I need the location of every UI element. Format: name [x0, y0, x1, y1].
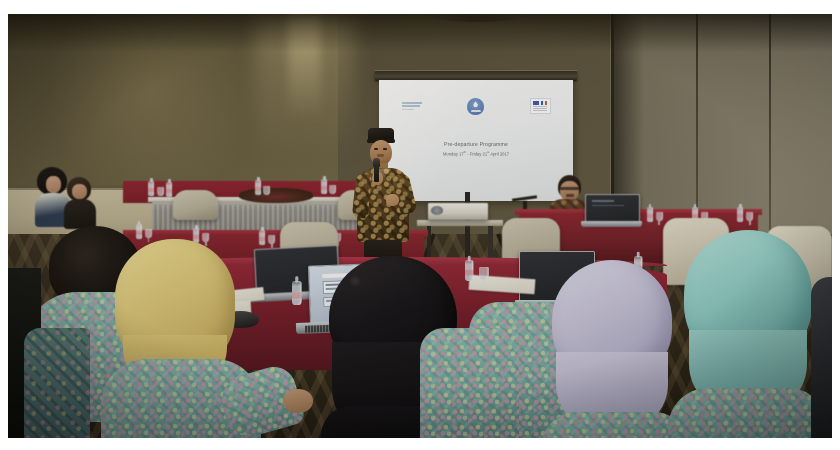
- photo-frame: Pre-departure Programme Monday 17th - Fr…: [0, 0, 840, 450]
- water-bottle: [321, 179, 327, 194]
- face: [46, 176, 61, 193]
- participant-batik-shoulder: [420, 328, 519, 438]
- microphone-body: [374, 166, 379, 182]
- france-flag-icon: [541, 101, 547, 105]
- participant-batik-edge: [24, 328, 90, 438]
- water-bottle: [292, 281, 302, 305]
- drinking-glass: [656, 212, 663, 221]
- projector-lens: [431, 206, 443, 214]
- slide-dates: Monday 17th - Friday 21st April 2017: [379, 150, 573, 156]
- participant-edge: [811, 277, 832, 438]
- water-bottle: [255, 180, 261, 195]
- water-bottle: [465, 260, 473, 281]
- slide-title: Pre-departure Programme: [379, 142, 573, 148]
- water-bottle: [647, 207, 653, 222]
- slide-logo-row: [379, 80, 573, 115]
- water-bottle: [737, 207, 743, 222]
- drinking-glass: [329, 185, 336, 194]
- france-eu-logo: [530, 98, 551, 114]
- flower-arrangement: [239, 188, 313, 203]
- face: [560, 181, 579, 201]
- hand: [283, 389, 313, 413]
- moustache: [566, 194, 574, 197]
- slide-dates-prefix: Monday 17: [443, 152, 464, 157]
- hijab-pin-icon: [349, 276, 361, 286]
- slide-dates-mid: - Friday 21: [466, 152, 487, 157]
- water-bottle: [166, 182, 172, 197]
- slide-dates-suffix: April 2017: [489, 152, 509, 157]
- water-bottle: [259, 230, 265, 245]
- institut-francais-logo: [402, 100, 422, 112]
- eu-flag-icon: [533, 101, 539, 105]
- screen-casing: [375, 71, 577, 80]
- batik-uniform: [668, 388, 828, 438]
- drinking-glass: [145, 229, 152, 238]
- chair: [173, 190, 218, 220]
- torso: [64, 199, 96, 229]
- water-bottle: [148, 181, 154, 196]
- drinking-glass: [746, 212, 753, 221]
- water-bottle: [136, 224, 142, 239]
- batik-uniform: [542, 412, 688, 438]
- drinking-glass: [263, 186, 270, 195]
- eyeglasses-icon: [560, 187, 579, 190]
- laptop-base[interactable]: [581, 221, 643, 227]
- conference-photo: Pre-departure Programme Monday 17th - Fr…: [8, 14, 832, 438]
- drinking-glass: [479, 267, 489, 280]
- laptop-screen[interactable]: [585, 194, 641, 224]
- ceiling-shadow: [8, 14, 832, 52]
- drinking-glass: [157, 187, 164, 196]
- kemdikbud-logo: [467, 98, 484, 115]
